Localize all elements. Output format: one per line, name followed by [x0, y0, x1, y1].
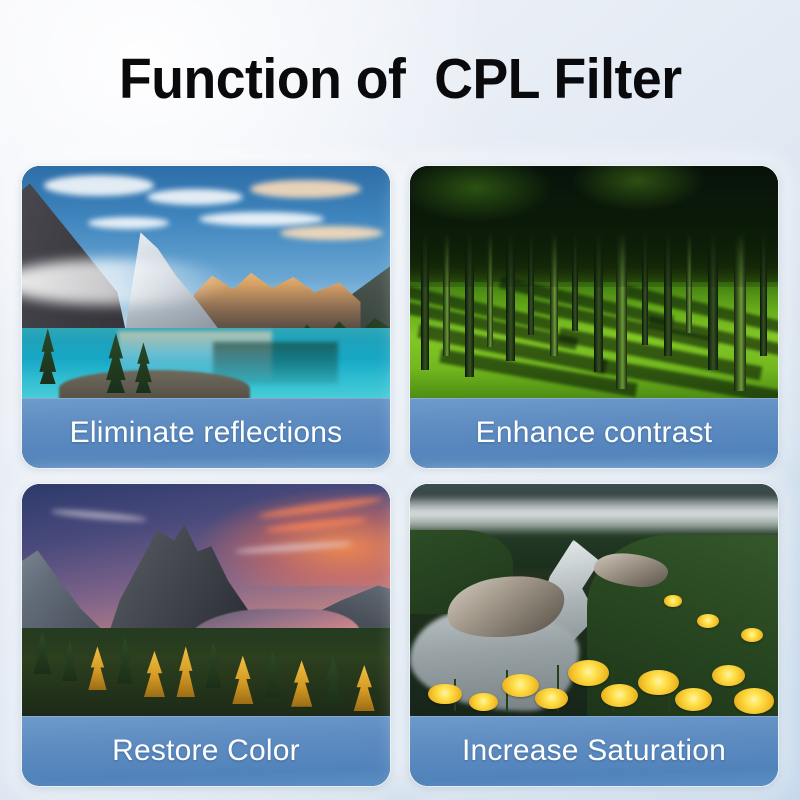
card-caption-enhance-contrast: Enhance contrast [410, 398, 778, 468]
card-caption-restore-color: Restore Color [22, 716, 390, 786]
feature-card-eliminate-reflections[interactable]: Eliminate reflections [22, 166, 390, 468]
feature-card-enhance-contrast[interactable]: Enhance contrast [410, 166, 778, 468]
poster-root: Function of CPL Filter [0, 0, 800, 800]
photo-moraine-lake [22, 166, 390, 398]
feature-card-increase-saturation[interactable]: Increase Saturation [410, 484, 778, 786]
feature-card-restore-color[interactable]: Restore Color [22, 484, 390, 786]
yellow-flower [697, 614, 719, 628]
feature-card-grid: Eliminate reflections [22, 166, 778, 786]
yellow-flower [428, 684, 461, 705]
photo-stream-flowers [410, 484, 778, 716]
photo-forest-shadows [410, 166, 778, 398]
dark-canopy [410, 166, 778, 287]
yellow-flower [601, 684, 638, 707]
yellow-flower [741, 628, 763, 642]
photo-sunset-lake [22, 484, 390, 716]
yellow-flower [712, 665, 745, 686]
card-caption-increase-saturation: Increase Saturation [410, 716, 778, 786]
card-caption-eliminate-reflections: Eliminate reflections [22, 398, 390, 468]
yellow-flower [535, 688, 568, 709]
page-title-container: Function of CPL Filter [0, 0, 800, 158]
yellow-flower [675, 688, 712, 711]
cloud-shape [88, 217, 169, 229]
yellow-flower [664, 595, 682, 607]
page-title: Function of CPL Filter [119, 51, 682, 108]
shoreline-rocks [59, 370, 250, 398]
yellow-flower [638, 670, 678, 696]
yellow-flower [568, 660, 608, 686]
yellow-flower [734, 688, 774, 714]
